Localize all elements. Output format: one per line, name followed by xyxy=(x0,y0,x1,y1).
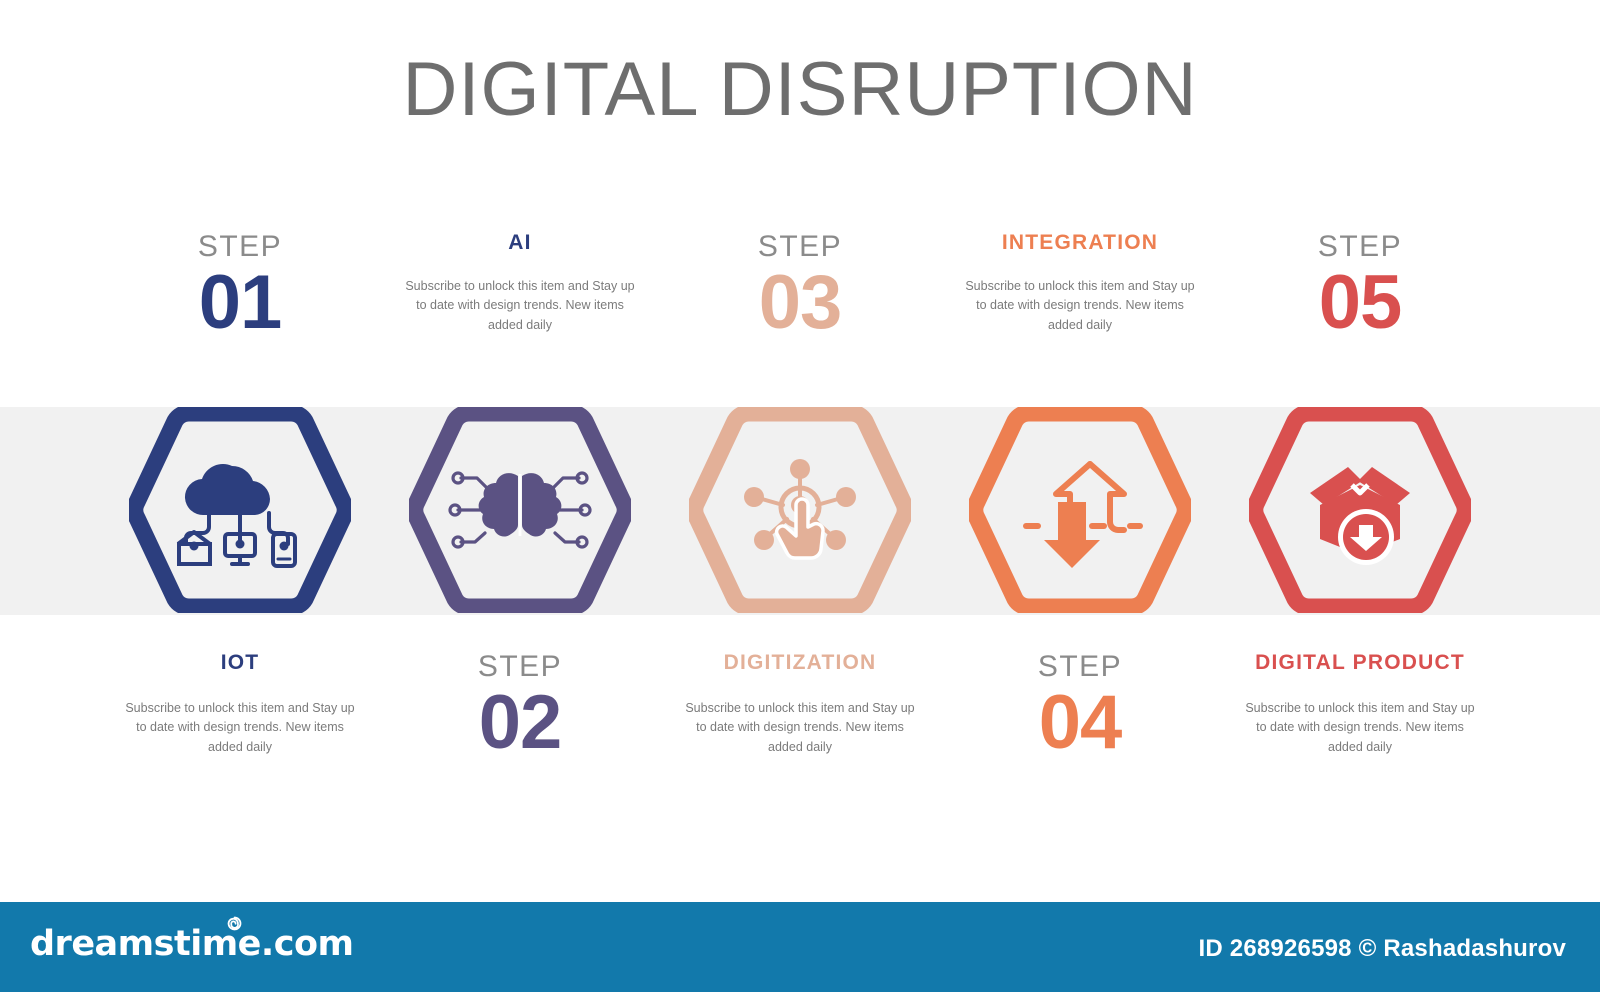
step-5-hexagon[interactable] xyxy=(1249,407,1471,613)
step-5-label: DIGITAL PRODUCT xyxy=(1244,652,1476,673)
step-2-label-block: AI Subscribe to unlock this item and Sta… xyxy=(404,232,636,335)
step-column-1: STEP 01 xyxy=(100,200,380,840)
step-3-label: DIGITIZATION xyxy=(684,652,916,673)
dreamstime-logo-text: dreamstime.com xyxy=(30,924,353,964)
cloud-iot-devices-icon xyxy=(178,464,295,566)
step-4-number: 04 xyxy=(964,684,1196,762)
step-5-body: Subscribe to unlock this item and Stay u… xyxy=(1244,699,1476,757)
step-2-label: AI xyxy=(404,232,636,253)
step-1-number-block: STEP 01 xyxy=(124,232,356,342)
step-4-label-block: INTEGRATION Subscribe to unlock this ite… xyxy=(964,232,1196,335)
step-column-2: AI Subscribe to unlock this item and Sta… xyxy=(380,200,660,840)
step-5-number: 05 xyxy=(1244,264,1476,342)
step-4-body: Subscribe to unlock this item and Stay u… xyxy=(964,277,1196,335)
step-1-number: 01 xyxy=(124,264,356,342)
step-5-label-block: DIGITAL PRODUCT Subscribe to unlock this… xyxy=(1244,652,1476,757)
infographic-canvas: DIGITAL DISRUPTION STEP 01 xyxy=(0,0,1600,992)
up-down-arrows-icon xyxy=(1026,464,1140,568)
steps-grid: STEP 01 xyxy=(100,200,1500,840)
step-3-number-block: STEP 03 xyxy=(684,232,916,342)
step-4-number-block: STEP 04 xyxy=(964,652,1196,762)
step-4-kicker: STEP xyxy=(964,652,1196,682)
step-4-label: INTEGRATION xyxy=(964,232,1196,253)
step-2-kicker: STEP xyxy=(404,652,636,682)
step-1-hexagon[interactable] xyxy=(129,407,351,613)
step-5-number-block: STEP 05 xyxy=(1244,232,1476,342)
open-box-download-icon xyxy=(1310,467,1410,565)
step-3-kicker: STEP xyxy=(684,232,916,262)
step-2-hexagon[interactable] xyxy=(409,407,631,613)
step-3-hexagon[interactable] xyxy=(689,407,911,613)
step-2-number: 02 xyxy=(404,684,636,762)
step-3-body: Subscribe to unlock this item and Stay u… xyxy=(684,699,916,757)
hexagon-2-svg xyxy=(409,407,631,613)
spiral-icon xyxy=(226,915,243,932)
hexagon-4-svg xyxy=(969,407,1191,613)
step-1-body: Subscribe to unlock this item and Stay u… xyxy=(124,699,356,757)
step-1-label-block: IOT Subscribe to unlock this item and St… xyxy=(124,652,356,757)
hexagon-3-svg xyxy=(689,407,911,613)
dreamstime-logo[interactable]: dreamstime.com xyxy=(30,924,353,964)
step-5-kicker: STEP xyxy=(1244,232,1476,262)
brain-circuit-icon xyxy=(450,473,590,547)
step-1-label: IOT xyxy=(124,652,356,673)
step-column-4: INTEGRATION Subscribe to unlock this ite… xyxy=(940,200,1220,840)
step-3-label-block: DIGITIZATION Subscribe to unlock this it… xyxy=(684,652,916,757)
step-2-body: Subscribe to unlock this item and Stay u… xyxy=(404,277,636,335)
step-column-5: STEP 05 xyxy=(1220,200,1500,840)
network-hand-touch-icon xyxy=(744,459,856,558)
image-credit: ID 268926598 © Rashadashurov xyxy=(1199,935,1566,963)
page-title: DIGITAL DISRUPTION xyxy=(0,46,1600,133)
hexagon-5-svg xyxy=(1249,407,1471,613)
footer-bar: dreamstime.com ID 268926598 © Rashadashu… xyxy=(0,902,1600,992)
step-column-3: STEP 03 xyxy=(660,200,940,840)
step-1-kicker: STEP xyxy=(124,232,356,262)
hexagon-1-svg xyxy=(129,407,351,613)
step-3-number: 03 xyxy=(684,264,916,342)
step-2-number-block: STEP 02 xyxy=(404,652,636,762)
step-4-hexagon[interactable] xyxy=(969,407,1191,613)
